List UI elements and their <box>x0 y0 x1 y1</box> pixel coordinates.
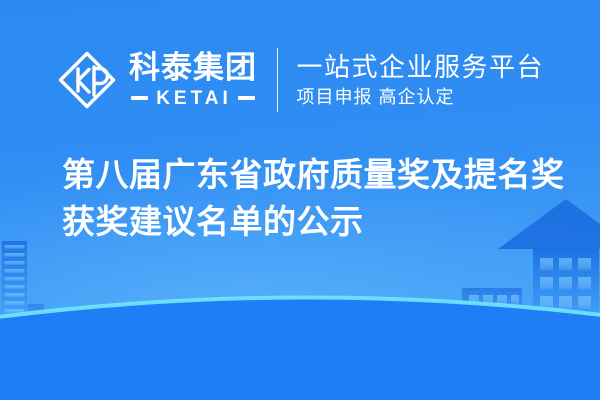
header-tagline: 一站式企业服务平台 项目申报 高企认定 <box>296 52 544 109</box>
wordmark-dash-left <box>131 96 148 100</box>
brand-logo[interactable]: 科泰集团 KETAI <box>56 49 257 111</box>
brand-name-en-row: KETAI <box>131 89 255 108</box>
brand-name-en: KETAI <box>154 89 232 108</box>
header-divider <box>277 48 279 112</box>
brand-wordmark: 科泰集团 KETAI <box>129 52 257 108</box>
promo-banner: 科泰集团 KETAI 一站式企业服务平台 项目申报 高企认定 第八届广东省政府质… <box>0 0 600 400</box>
page-title-line-1: 第八届广东省政府质量奖及提名奖 <box>62 152 562 199</box>
bottom-curved-wave <box>0 260 600 400</box>
page-title-line-2: 获奖建议名单的公示 <box>62 199 562 246</box>
banner-header: 科泰集团 KETAI 一站式企业服务平台 项目申报 高企认定 <box>0 40 600 120</box>
page-title: 第八届广东省政府质量奖及提名奖 获奖建议名单的公示 <box>62 152 562 246</box>
wordmark-dash-right <box>238 96 255 100</box>
brand-name-cn: 科泰集团 <box>129 52 257 85</box>
kp-monogram-diamond-icon <box>56 49 118 111</box>
tagline-sub: 项目申报 高企认定 <box>296 87 544 108</box>
tagline-main: 一站式企业服务平台 <box>296 52 544 83</box>
